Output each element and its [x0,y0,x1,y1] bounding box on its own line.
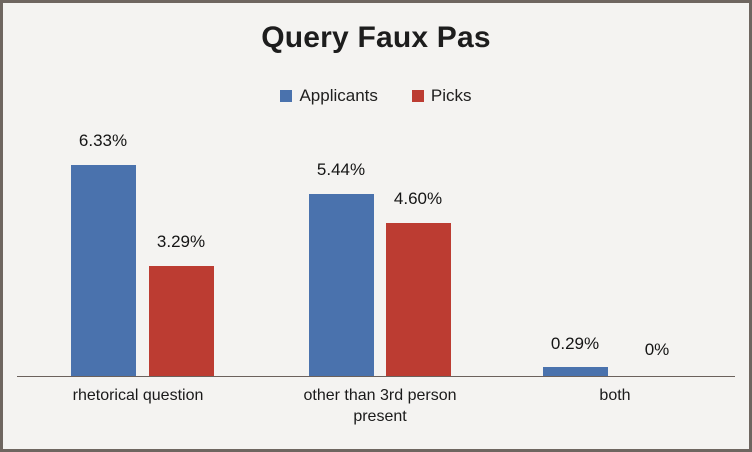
legend-item-picks[interactable]: Picks [412,87,472,104]
chart-screenshot: Query Faux Pas Applicants Picks 6.33% 3.… [0,0,752,452]
x-axis-category-labels: rhetorical question other than 3rd perso… [17,385,735,435]
x-axis-label-other-than-3rd-person: other than 3rd person present [265,385,495,427]
bar-value-picks-both: 0% [607,340,707,360]
bar-applicants-both[interactable] [543,367,608,376]
chart-legend: Applicants Picks [3,87,749,104]
bar-picks-other-than-3rd-person[interactable] [386,223,451,376]
x-axis-label-rhetorical-question: rhetorical question [23,385,253,406]
legend-item-applicants[interactable]: Applicants [280,87,377,104]
x-axis-label-both: both [500,385,730,406]
x-axis-label-both-line1: both [500,385,730,406]
bar-applicants-rhetorical-question[interactable] [71,165,136,376]
bar-value-applicants-rhetorical-question: 6.33% [53,131,153,151]
x-axis-label-other-than-3rd-person-line1: other than 3rd person [265,385,495,406]
chart-canvas: Query Faux Pas Applicants Picks 6.33% 3.… [3,3,749,449]
chart-title: Query Faux Pas [3,21,749,55]
bar-value-picks-rhetorical-question: 3.29% [131,232,231,252]
legend-label-applicants: Applicants [299,87,377,104]
x-axis-label-other-than-3rd-person-line2: present [265,406,495,427]
bar-value-picks-other-than-3rd-person: 4.60% [368,189,468,209]
legend-swatch-icon-picks [412,90,424,102]
x-axis-line [17,376,735,377]
x-axis-label-rhetorical-question-line1: rhetorical question [23,385,253,406]
plot-area: 6.33% 3.29% 5.44% 4.60% 0.29% 0% [17,113,735,377]
bar-picks-rhetorical-question[interactable] [149,266,214,376]
bar-value-applicants-other-than-3rd-person: 5.44% [291,160,391,180]
legend-label-picks: Picks [431,87,472,104]
legend-swatch-icon-applicants [280,90,292,102]
bar-applicants-other-than-3rd-person[interactable] [309,194,374,376]
